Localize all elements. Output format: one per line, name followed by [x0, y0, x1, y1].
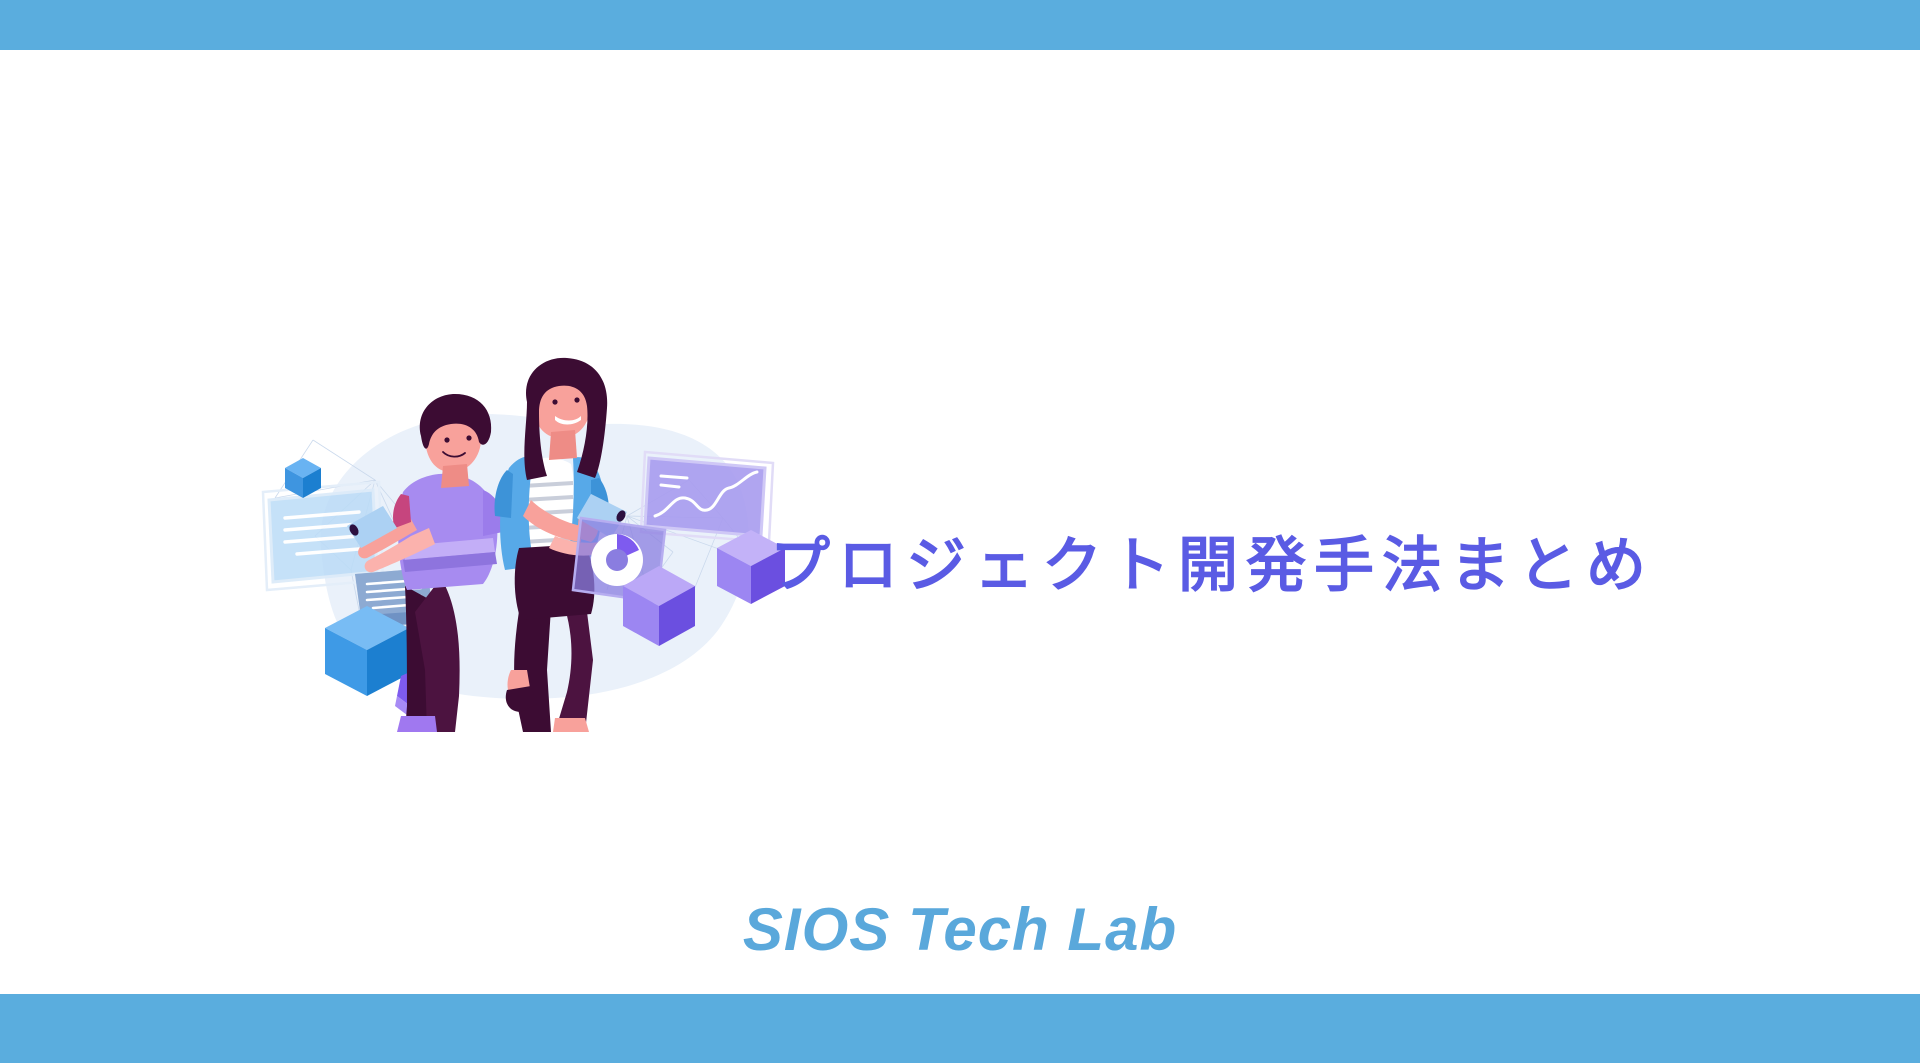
top-accent-bar: [0, 0, 1920, 50]
brand-wordmark: SIOS Tech Lab: [0, 900, 1920, 960]
slide-content: プロジェクト開発手法まとめ SIOS Tech Lab: [0, 50, 1920, 994]
hero-illustration: [255, 340, 795, 760]
panel-line-chart: [645, 458, 765, 536]
cube-blue-small: [285, 458, 321, 498]
slide-root: プロジェクト開発手法まとめ SIOS Tech Lab: [0, 0, 1920, 1063]
page-title: プロジェクト開発手法まとめ: [770, 536, 1770, 596]
bottom-accent-bar: [0, 994, 1920, 1063]
